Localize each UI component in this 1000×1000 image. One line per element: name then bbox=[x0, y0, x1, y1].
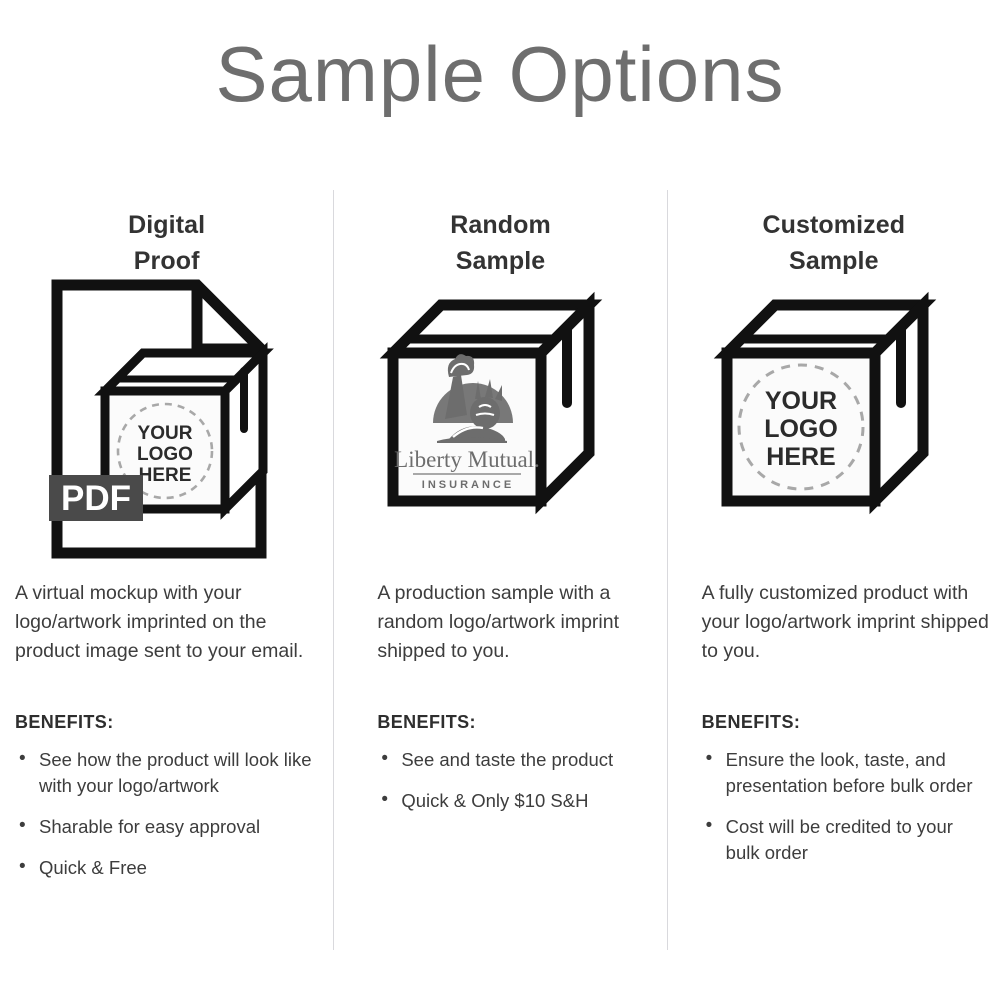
column-heading-digital-proof: Digital Proof bbox=[0, 208, 333, 279]
pdf-badge-label: PDF bbox=[61, 479, 131, 518]
heading-line-1: Random bbox=[334, 208, 666, 244]
heading-line-2: Proof bbox=[0, 244, 333, 280]
sample-options-columns: Digital Proof bbox=[0, 190, 1000, 950]
brand-logo-subtitle: INSURANCE bbox=[422, 479, 514, 491]
list-item: Sharable for easy approval bbox=[15, 814, 313, 840]
heading-line-1: Digital bbox=[0, 208, 333, 244]
list-item: Cost will be credited to your bulk order bbox=[702, 814, 990, 867]
pdf-document-with-box-icon: YOUR LOGO HERE PDF bbox=[47, 279, 287, 559]
logo-placeholder-line-2: LOGO bbox=[137, 444, 193, 465]
description-customized-sample: A fully customized product with your log… bbox=[668, 579, 1000, 666]
page-title: Sample Options bbox=[0, 34, 1000, 116]
column-heading-random-sample: Random Sample bbox=[334, 208, 666, 279]
box-with-brand-logo-icon: Liberty Mutual. INSURANCE bbox=[375, 291, 625, 541]
artwork-customized-sample: YOUR LOGO HERE bbox=[668, 279, 1000, 579]
box-with-logo-placeholder-icon: YOUR LOGO HERE bbox=[709, 291, 959, 541]
logo-placeholder-line-1: YOUR bbox=[137, 423, 192, 444]
heading-line-1: Customized bbox=[668, 208, 1000, 244]
artwork-digital-proof: YOUR LOGO HERE PDF bbox=[0, 279, 333, 579]
heading-line-2: Sample bbox=[668, 244, 1000, 280]
column-random-sample: Random Sample bbox=[333, 190, 666, 950]
brand-logo-name: Liberty Mutual. bbox=[395, 447, 541, 472]
logo-placeholder-line-3: HERE bbox=[766, 443, 835, 471]
column-customized-sample: Customized Sample YOUR bbox=[667, 190, 1000, 950]
heading-line-2: Sample bbox=[334, 244, 666, 280]
logo-placeholder-line-2: LOGO bbox=[764, 415, 838, 443]
benefits-label-random-sample: BENEFITS: bbox=[334, 712, 666, 733]
artwork-random-sample: Liberty Mutual. INSURANCE bbox=[334, 279, 666, 579]
description-digital-proof: A virtual mockup with your logo/artwork … bbox=[0, 579, 333, 666]
benefits-label-customized-sample: BENEFITS: bbox=[668, 712, 1000, 733]
list-item: See and taste the product bbox=[377, 747, 652, 773]
list-item: Quick & Only $10 S&H bbox=[377, 788, 652, 814]
description-random-sample: A production sample with a random logo/a… bbox=[334, 579, 666, 666]
logo-placeholder-line-3: HERE bbox=[138, 465, 191, 486]
list-item: Quick & Free bbox=[15, 855, 313, 881]
logo-placeholder-line-1: YOUR bbox=[765, 387, 837, 415]
list-item: See how the product will look like with … bbox=[15, 747, 313, 800]
column-digital-proof: Digital Proof bbox=[0, 190, 333, 950]
benefits-list-random-sample: See and taste the product Quick & Only $… bbox=[334, 747, 666, 815]
benefits-list-digital-proof: See how the product will look like with … bbox=[0, 747, 333, 882]
column-heading-customized-sample: Customized Sample bbox=[668, 208, 1000, 279]
benefits-label-digital-proof: BENEFITS: bbox=[0, 712, 333, 733]
list-item: Ensure the look, taste, and presentation… bbox=[702, 747, 990, 800]
benefits-list-customized-sample: Ensure the look, taste, and presentation… bbox=[668, 747, 1000, 867]
